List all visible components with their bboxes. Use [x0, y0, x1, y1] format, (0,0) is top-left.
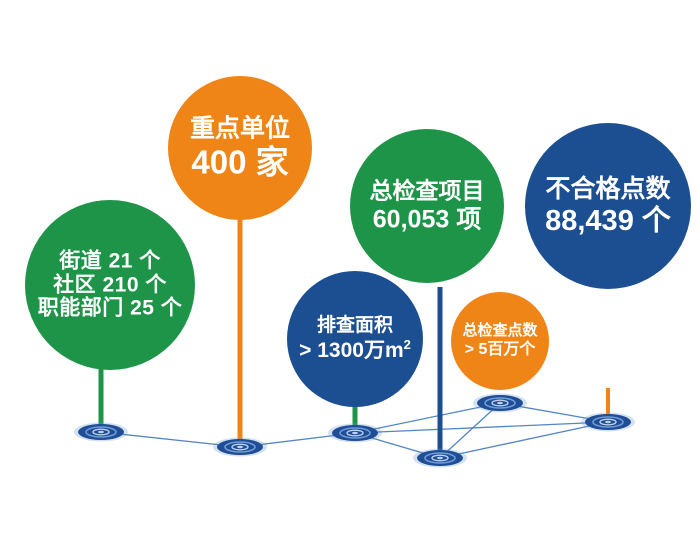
marker-key-units — [213, 438, 267, 457]
connector-line — [355, 422, 608, 433]
marker-check-points — [473, 394, 527, 413]
connector-line — [440, 422, 608, 458]
bubble-circle-area — [287, 271, 423, 407]
bubble-circle-streets — [25, 200, 195, 370]
infographic-canvas: 街道 21 个 社区 210 个 职能部门 25 个 重点单位 400 家 总检… — [0, 0, 700, 553]
marker-core — [237, 446, 243, 449]
bubble-circle-total-items — [350, 129, 504, 283]
bubble-circle-check-points — [451, 292, 549, 390]
bubble-circle-key-units — [168, 76, 312, 220]
marker-core — [605, 421, 611, 424]
marker-streets — [74, 423, 128, 442]
marker-core — [497, 402, 503, 405]
marker-fail-points — [581, 413, 635, 432]
marker-total-items — [413, 449, 467, 468]
bubble-network-graphic — [0, 0, 700, 553]
marker-core — [352, 432, 358, 435]
marker-core — [98, 431, 104, 434]
marker-core — [437, 457, 443, 460]
bubble-circles — [25, 76, 691, 407]
bubble-circle-fail-points — [525, 123, 691, 289]
marker-area — [328, 424, 382, 443]
